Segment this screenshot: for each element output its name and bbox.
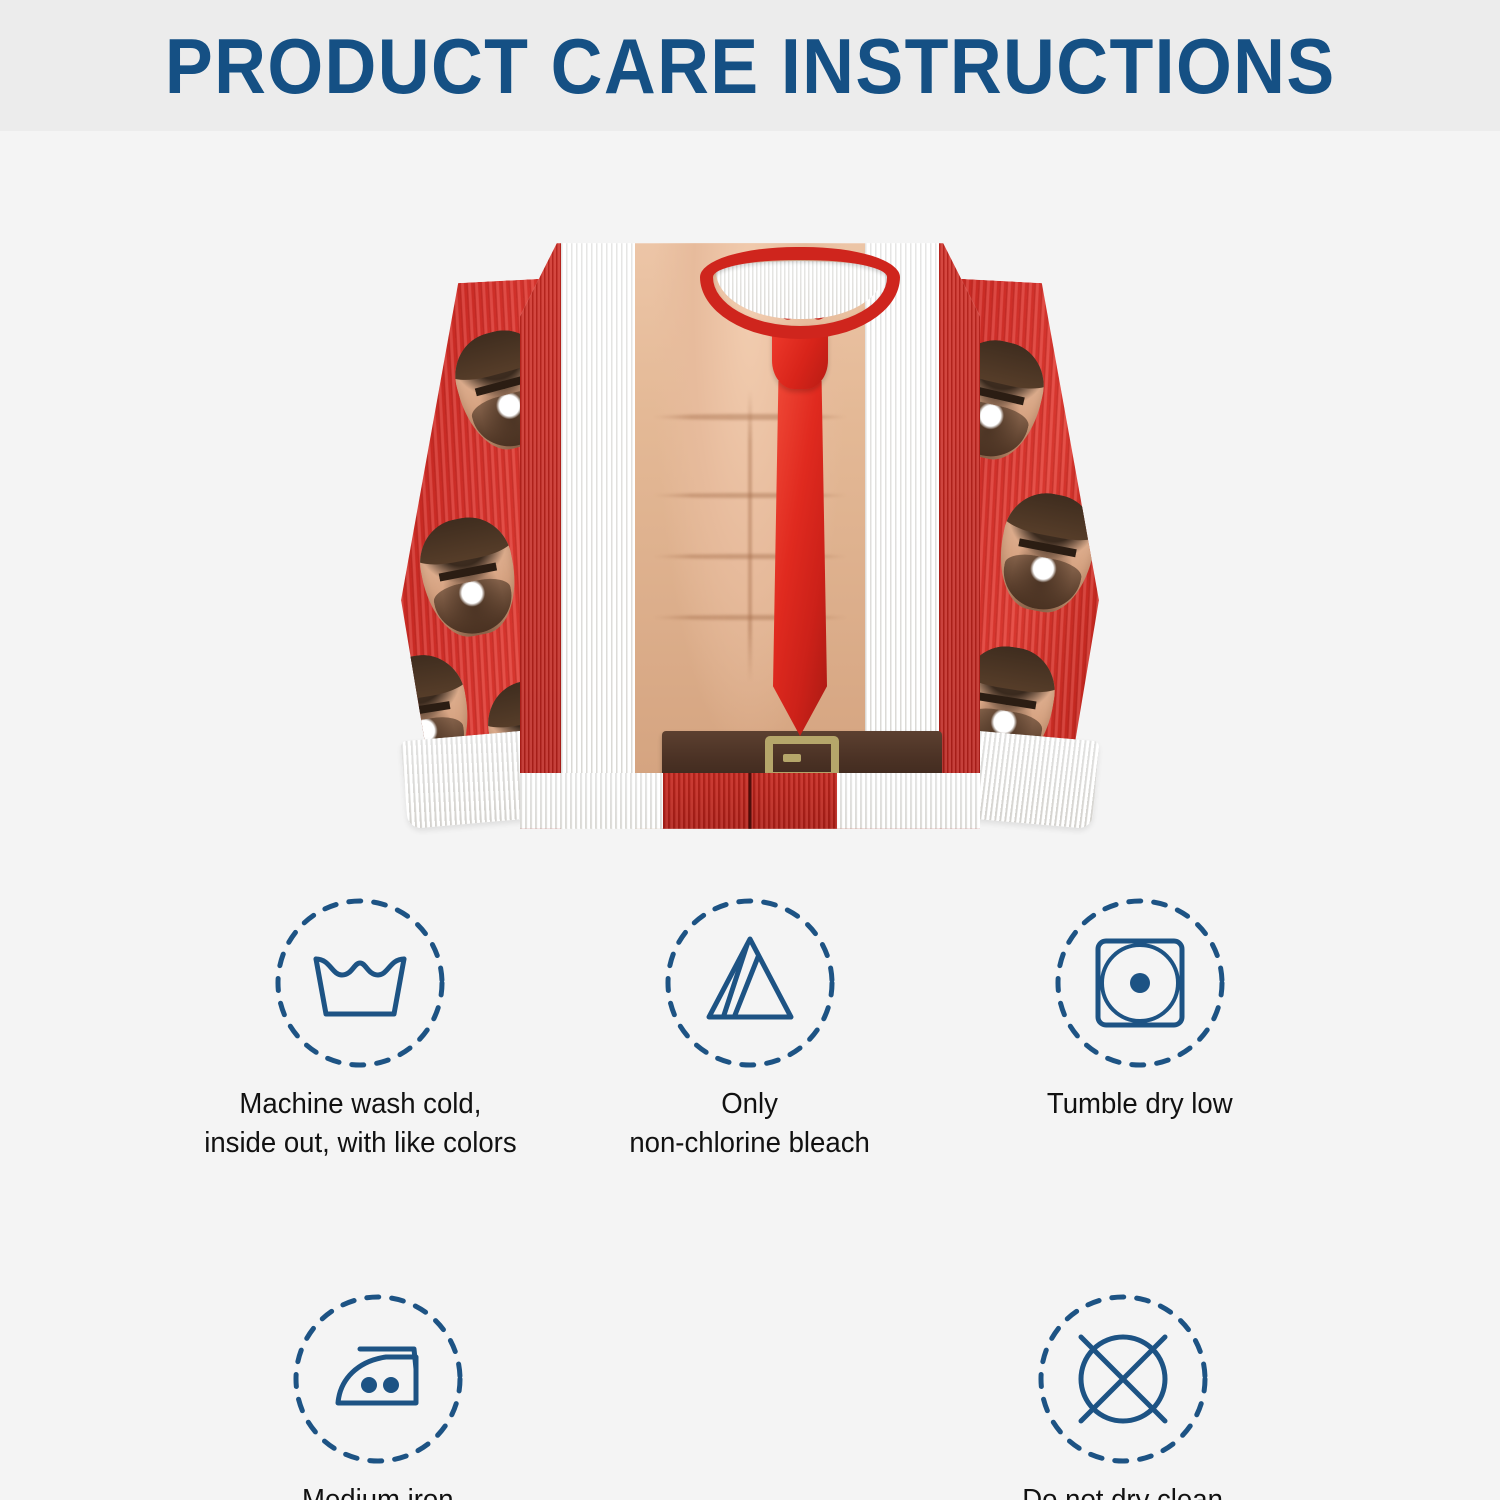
care-row-bottom: Medium iron Do not dry clean	[0, 1291, 1500, 1500]
santa-sweater-illustration	[370, 191, 1130, 891]
body-red-panel-left	[520, 231, 561, 841]
necktie-body	[773, 381, 827, 736]
care-item-machine-wash: Machine wash cold, inside out, with like…	[195, 895, 525, 1163]
face-eyes	[978, 692, 1037, 709]
hem-red-section	[663, 773, 838, 847]
non-chlorine-bleach-icon	[662, 895, 838, 1071]
care-label: Only non-chlorine bleach	[630, 1085, 870, 1163]
printed-face	[412, 510, 525, 643]
tumble-dry-low-icon	[1052, 895, 1228, 1071]
care-label: Medium iron	[302, 1481, 454, 1500]
do-not-dry-clean-icon	[1035, 1291, 1211, 1467]
face-eyes	[438, 562, 497, 581]
care-item-bleach: Only non-chlorine bleach	[585, 895, 915, 1163]
fur-trim-left	[561, 231, 635, 841]
care-label: Tumble dry low	[1047, 1085, 1233, 1124]
product-image-area	[0, 131, 1500, 891]
sweater-body	[520, 231, 980, 841]
machine-wash-cold-icon	[272, 895, 448, 1071]
product-care-instructions-page: PRODUCT CARE INSTRUCTIONS	[0, 0, 1500, 1500]
care-item-tumble-dry: Tumble dry low	[975, 895, 1305, 1163]
medium-iron-icon	[290, 1291, 466, 1467]
face-eyes	[1018, 538, 1077, 557]
care-item-dry-clean: Do not dry clean	[958, 1291, 1288, 1500]
face-eyes	[391, 701, 450, 718]
page-title: PRODUCT CARE INSTRUCTIONS	[165, 27, 1336, 105]
care-row-top: Machine wash cold, inside out, with like…	[0, 895, 1500, 1163]
body-red-panel-right	[939, 231, 980, 841]
care-item-iron: Medium iron	[213, 1291, 543, 1500]
care-label: Do not dry clean	[1022, 1481, 1223, 1500]
page-header: PRODUCT CARE INSTRUCTIONS	[0, 0, 1500, 131]
care-symbols-section: Machine wash cold, inside out, with like…	[0, 895, 1500, 1500]
torso-center-line	[748, 390, 752, 683]
printed-face	[990, 486, 1103, 619]
hem-seam	[748, 773, 751, 847]
care-label: Machine wash cold, inside out, with like…	[204, 1085, 516, 1163]
